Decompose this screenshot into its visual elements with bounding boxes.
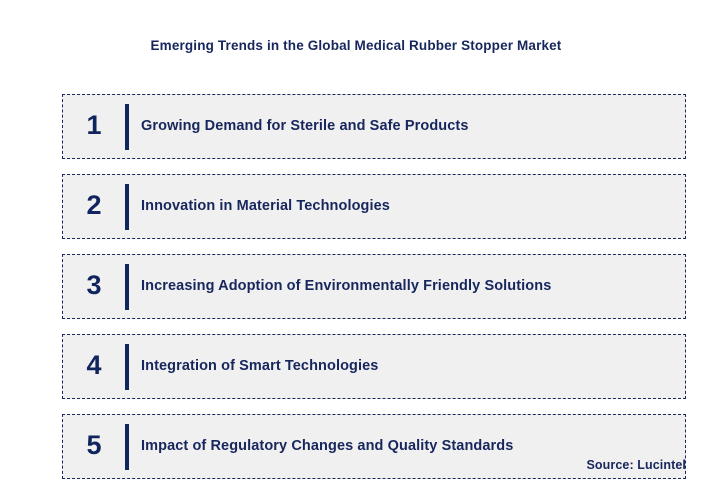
trend-number-badge: 2 xyxy=(63,192,125,221)
trend-label: Growing Demand for Sterile and Safe Prod… xyxy=(129,118,685,135)
list-item: 3 Increasing Adoption of Environmentally… xyxy=(62,254,686,319)
trend-label: Innovation in Material Technologies xyxy=(129,198,685,215)
list-item: 2 Innovation in Material Technologies xyxy=(62,174,686,239)
list-item: 1 Growing Demand for Sterile and Safe Pr… xyxy=(62,94,686,159)
trend-number-badge: 5 xyxy=(63,432,125,461)
trend-number-badge: 3 xyxy=(63,272,125,301)
source-attribution: Source: Lucintel xyxy=(586,458,686,472)
emerging-trends-infographic: Emerging Trends in the Global Medical Ru… xyxy=(0,0,712,501)
trend-number-badge: 1 xyxy=(63,112,125,141)
trend-label: Integration of Smart Technologies xyxy=(129,358,685,375)
trend-label: Increasing Adoption of Environmentally F… xyxy=(129,278,685,295)
page-title: Emerging Trends in the Global Medical Ru… xyxy=(0,38,712,53)
trend-list: 1 Growing Demand for Sterile and Safe Pr… xyxy=(62,94,686,479)
trend-label: Impact of Regulatory Changes and Quality… xyxy=(129,438,685,455)
trend-number-badge: 4 xyxy=(63,352,125,381)
list-item: 4 Integration of Smart Technologies xyxy=(62,334,686,399)
